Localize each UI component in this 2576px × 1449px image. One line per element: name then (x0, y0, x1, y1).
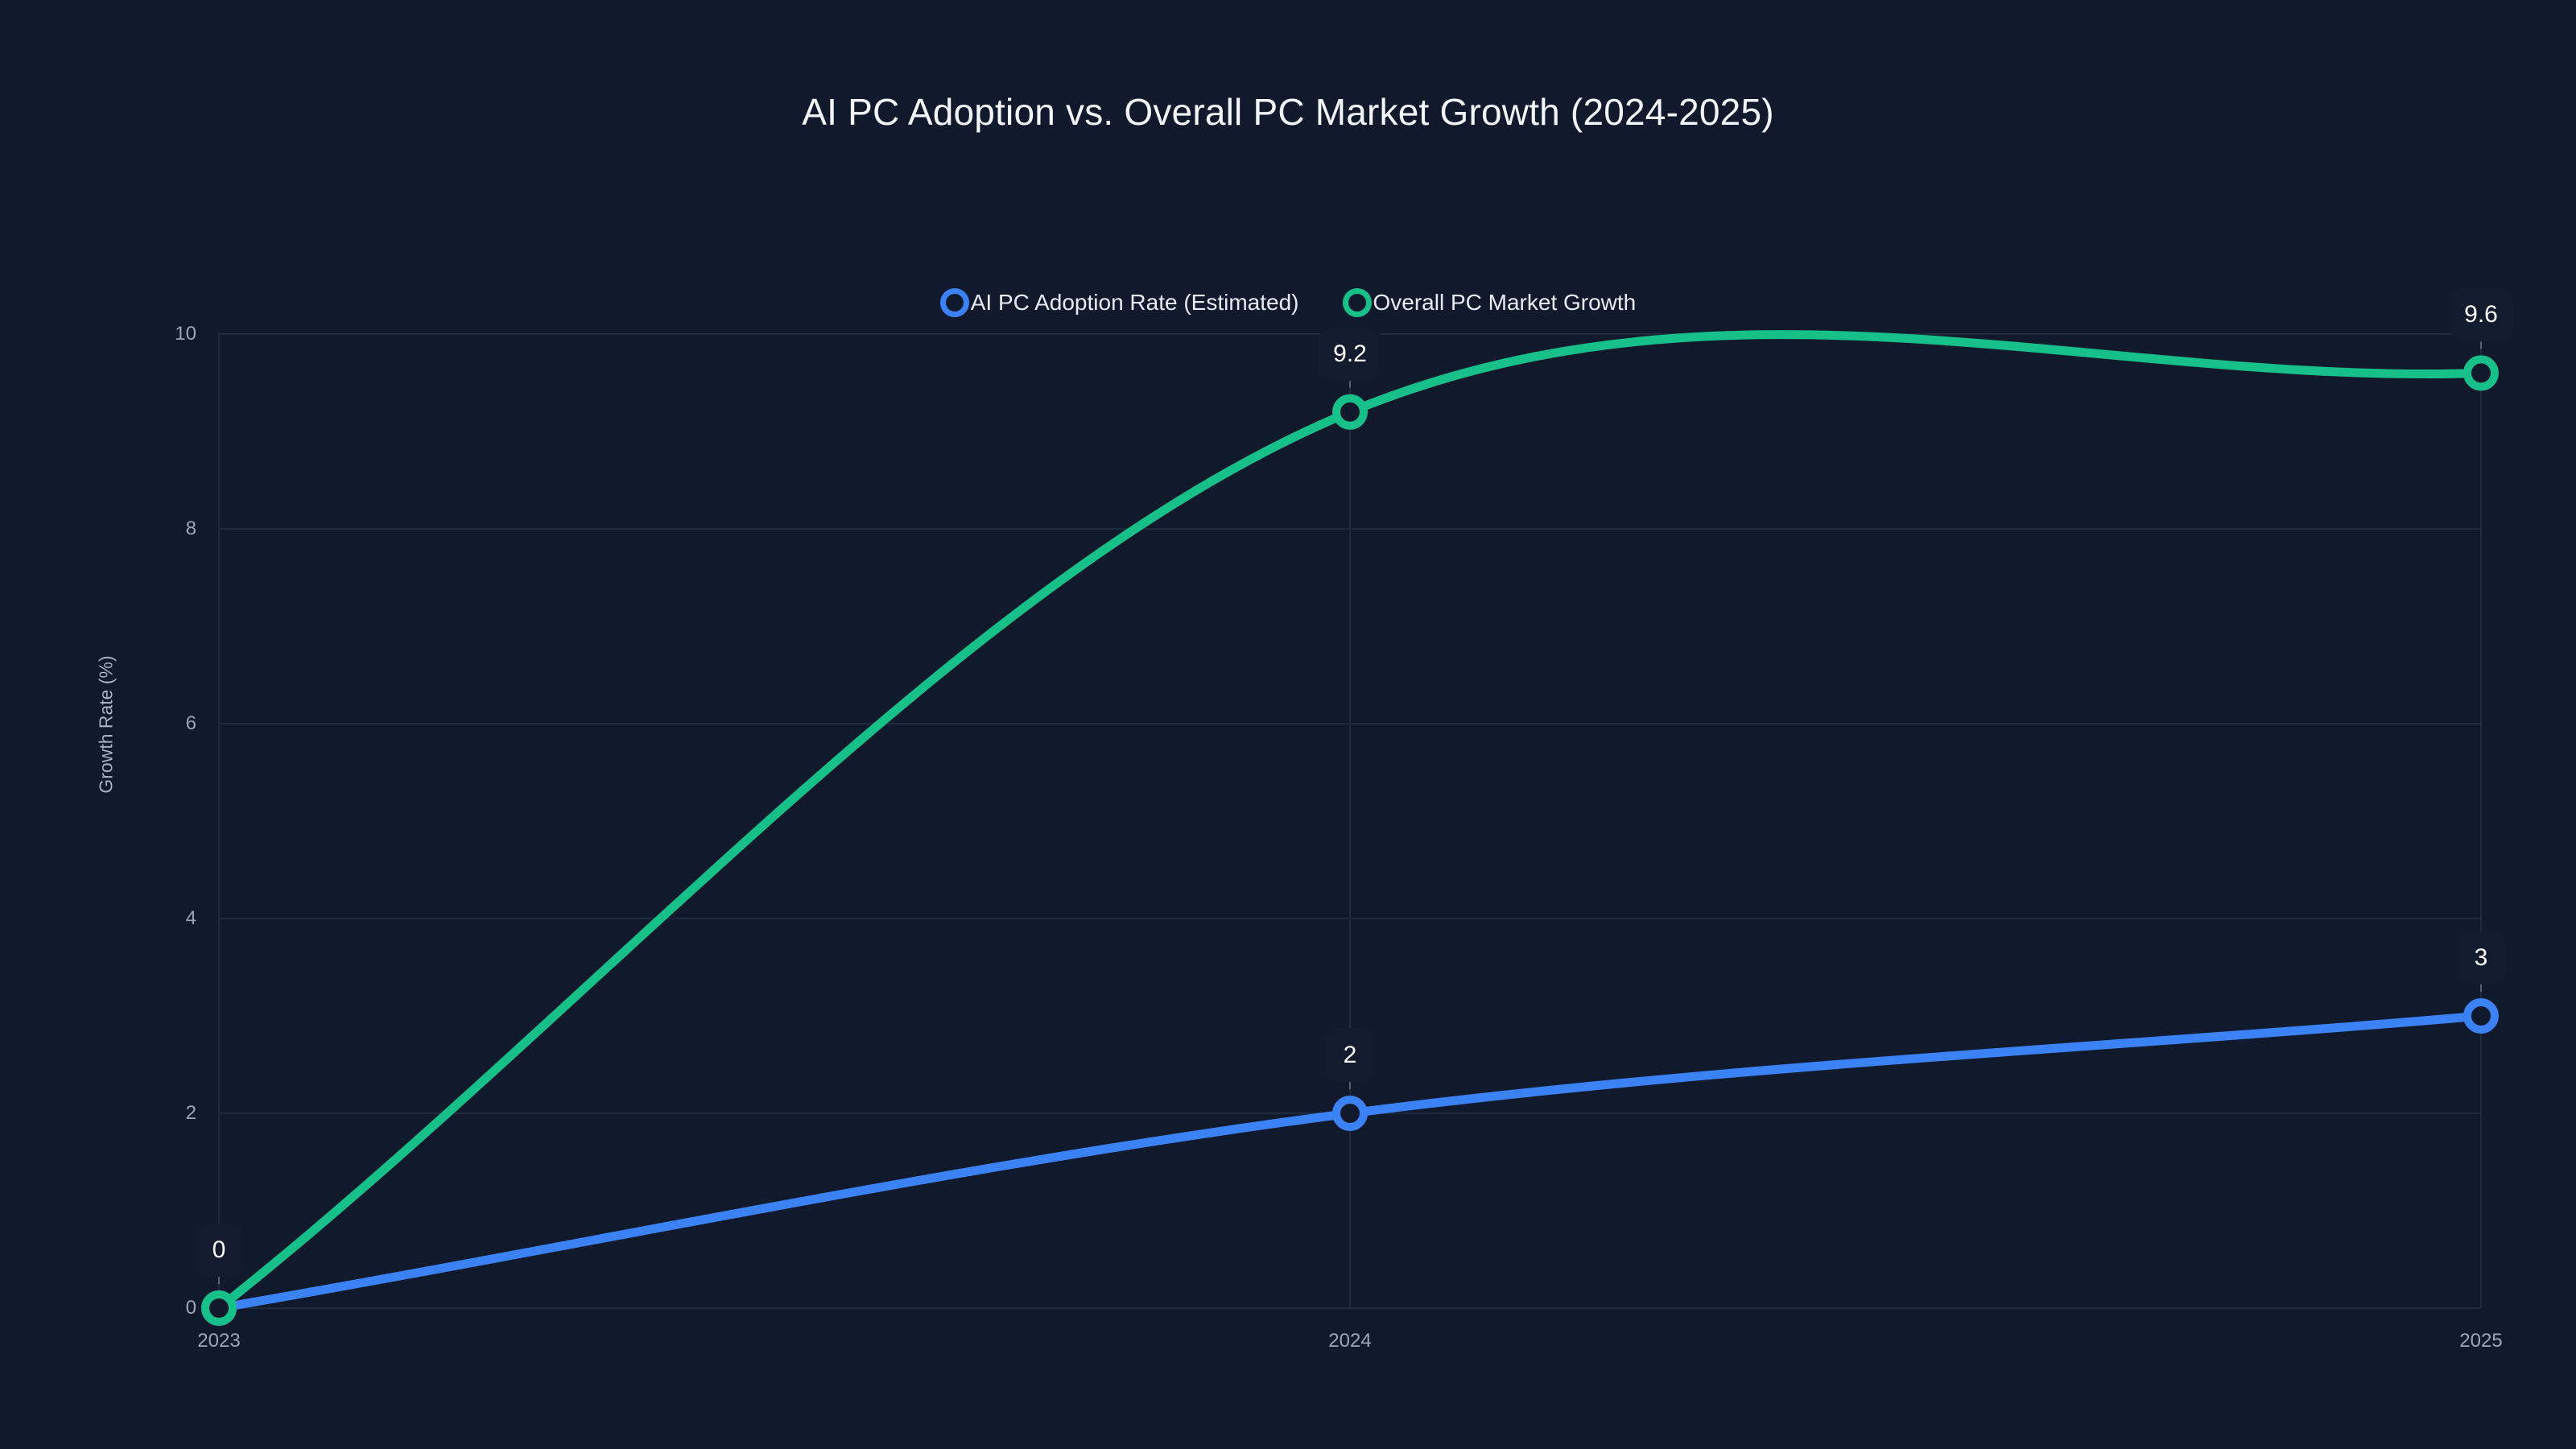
data-point-label: 3 (2456, 931, 2506, 985)
y-axis-tick-label: 2 (186, 1102, 196, 1125)
data-point-label: 9.2 (1319, 328, 1381, 381)
grid-lines (219, 334, 2481, 1308)
plot-area (0, 0, 2576, 1449)
y-axis-tick-label: 0 (186, 1297, 196, 1319)
chart-canvas: AI PC Adoption vs. Overall PC Market Gro… (0, 0, 2576, 1449)
data-point-label: 9.6 (2450, 288, 2512, 341)
y-axis-tick-label: 6 (186, 712, 196, 735)
data-point-label: 2 (1325, 1029, 1375, 1082)
x-axis-tick-label: 2023 (197, 1330, 240, 1352)
y-axis-tick-label: 4 (186, 907, 196, 930)
x-axis-tick-label: 2024 (1328, 1330, 1371, 1352)
x-axis-tick-label: 2025 (2459, 1330, 2502, 1352)
y-axis-tick-label: 8 (186, 518, 196, 540)
data-point-label: 0 (194, 1224, 244, 1277)
y-axis-tick-label: 10 (175, 323, 196, 345)
